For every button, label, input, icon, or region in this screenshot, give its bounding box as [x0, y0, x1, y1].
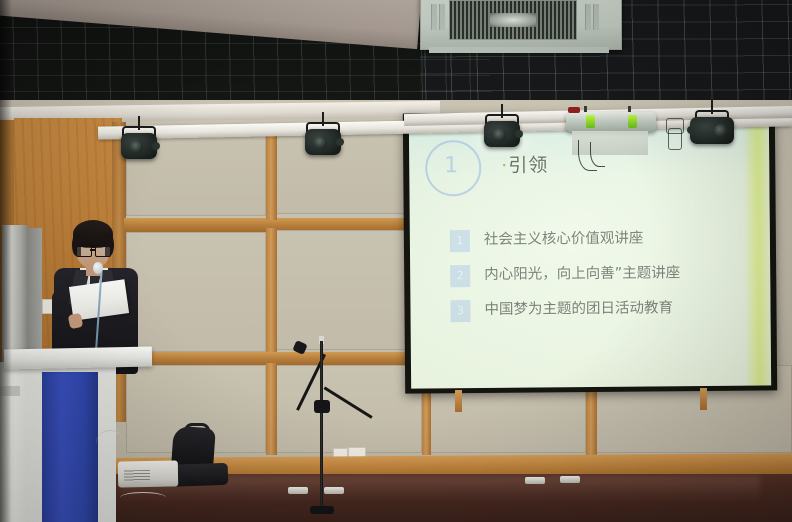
bullet-text: 中国梦为主题的团日活动教育: [484, 296, 673, 322]
light-housing: [305, 129, 341, 155]
hanging-cable: [590, 142, 605, 167]
floor-socket-plate: [525, 477, 545, 484]
presentation-photo-scene: 1 ·引领 1 社会主义核心价值观讲座 2 内心阳光，向上向善”主题讲座 3 中…: [0, 0, 792, 522]
light-knob: [336, 138, 344, 146]
cylindrical-light-fixture: [566, 106, 656, 132]
podium-desktop[interactable]: [4, 346, 152, 369]
power-cable: [96, 430, 124, 457]
safety-hook-wire: [666, 118, 684, 134]
light-knob: [152, 142, 160, 150]
light-knob: [687, 126, 695, 134]
wood-trim-vertical: [266, 124, 277, 220]
light-lens-icon: [314, 136, 327, 149]
podium-shelf: [0, 386, 20, 396]
ac-grille-icon: [449, 0, 577, 40]
wood-trim-vertical: [266, 363, 277, 455]
slide-bullet-list: 1 社会主义核心价值观讲座 2 内心阳光，向上向善”主题讲座 3 中国梦为主题的…: [450, 226, 761, 334]
glasses-lens-right: [95, 246, 111, 257]
fixture-led-indicator: [628, 115, 637, 128]
floor-socket-plate: [324, 487, 344, 494]
light-housing: [121, 133, 157, 159]
stage-light: [303, 112, 343, 172]
screen-support-leg: [700, 388, 707, 410]
light-knob: [515, 130, 523, 138]
air-conditioner-unit: [420, 0, 622, 50]
stage-light: [119, 116, 159, 176]
bullet-text: 社会主义核心价值观讲座: [484, 227, 644, 252]
light-housing: [484, 121, 520, 147]
floor-socket-plate: [560, 476, 580, 483]
list-item: 1 社会主义核心价值观讲座: [450, 226, 760, 260]
fixture-led-indicator: [586, 115, 595, 128]
bullet-text: 内心阳光，向上向善”主题讲座: [484, 261, 680, 287]
slide-number-badge: 1: [425, 140, 477, 192]
stage-light: [690, 100, 734, 162]
bullet-number: 2: [450, 265, 470, 287]
list-item: 2 内心阳光，向上向善”主题讲座: [450, 261, 760, 295]
mic-stand-pole: [320, 341, 323, 513]
fixture-end-cap: [568, 107, 580, 113]
wall-panel: [126, 232, 266, 352]
floor-socket-plate: [288, 487, 308, 494]
ac-lip: [429, 47, 609, 53]
wall-panel: [276, 230, 422, 350]
screen-support-leg: [455, 390, 462, 412]
mic-stand-joint[interactable]: [314, 400, 330, 413]
glasses-lens-left: [76, 246, 92, 257]
light-lens-icon: [714, 124, 727, 137]
podium-front-panel: [42, 372, 98, 522]
ac-vane: [431, 4, 437, 30]
mic-stand-base: [310, 506, 334, 514]
projector-unit: [118, 460, 178, 487]
light-housing: [690, 117, 734, 144]
power-cable: [120, 492, 166, 503]
glasses-icon: [76, 246, 111, 256]
light-lens-icon: [130, 140, 143, 153]
wall-panel: [276, 126, 422, 214]
bullet-number: 3: [450, 300, 470, 322]
podium-microphone-head: [93, 262, 103, 274]
stage-light: [482, 104, 522, 166]
wood-trim-vertical: [266, 228, 277, 354]
list-item: 3 中国梦为主题的团日活动教育: [450, 296, 760, 330]
ac-vane: [439, 4, 445, 30]
light-lens-icon: [493, 128, 506, 141]
ac-vane: [585, 4, 591, 30]
projector-vent: [124, 470, 150, 482]
fixture-body: [566, 112, 656, 132]
ac-vane: [593, 4, 599, 30]
bullet-number: 1: [450, 230, 470, 252]
